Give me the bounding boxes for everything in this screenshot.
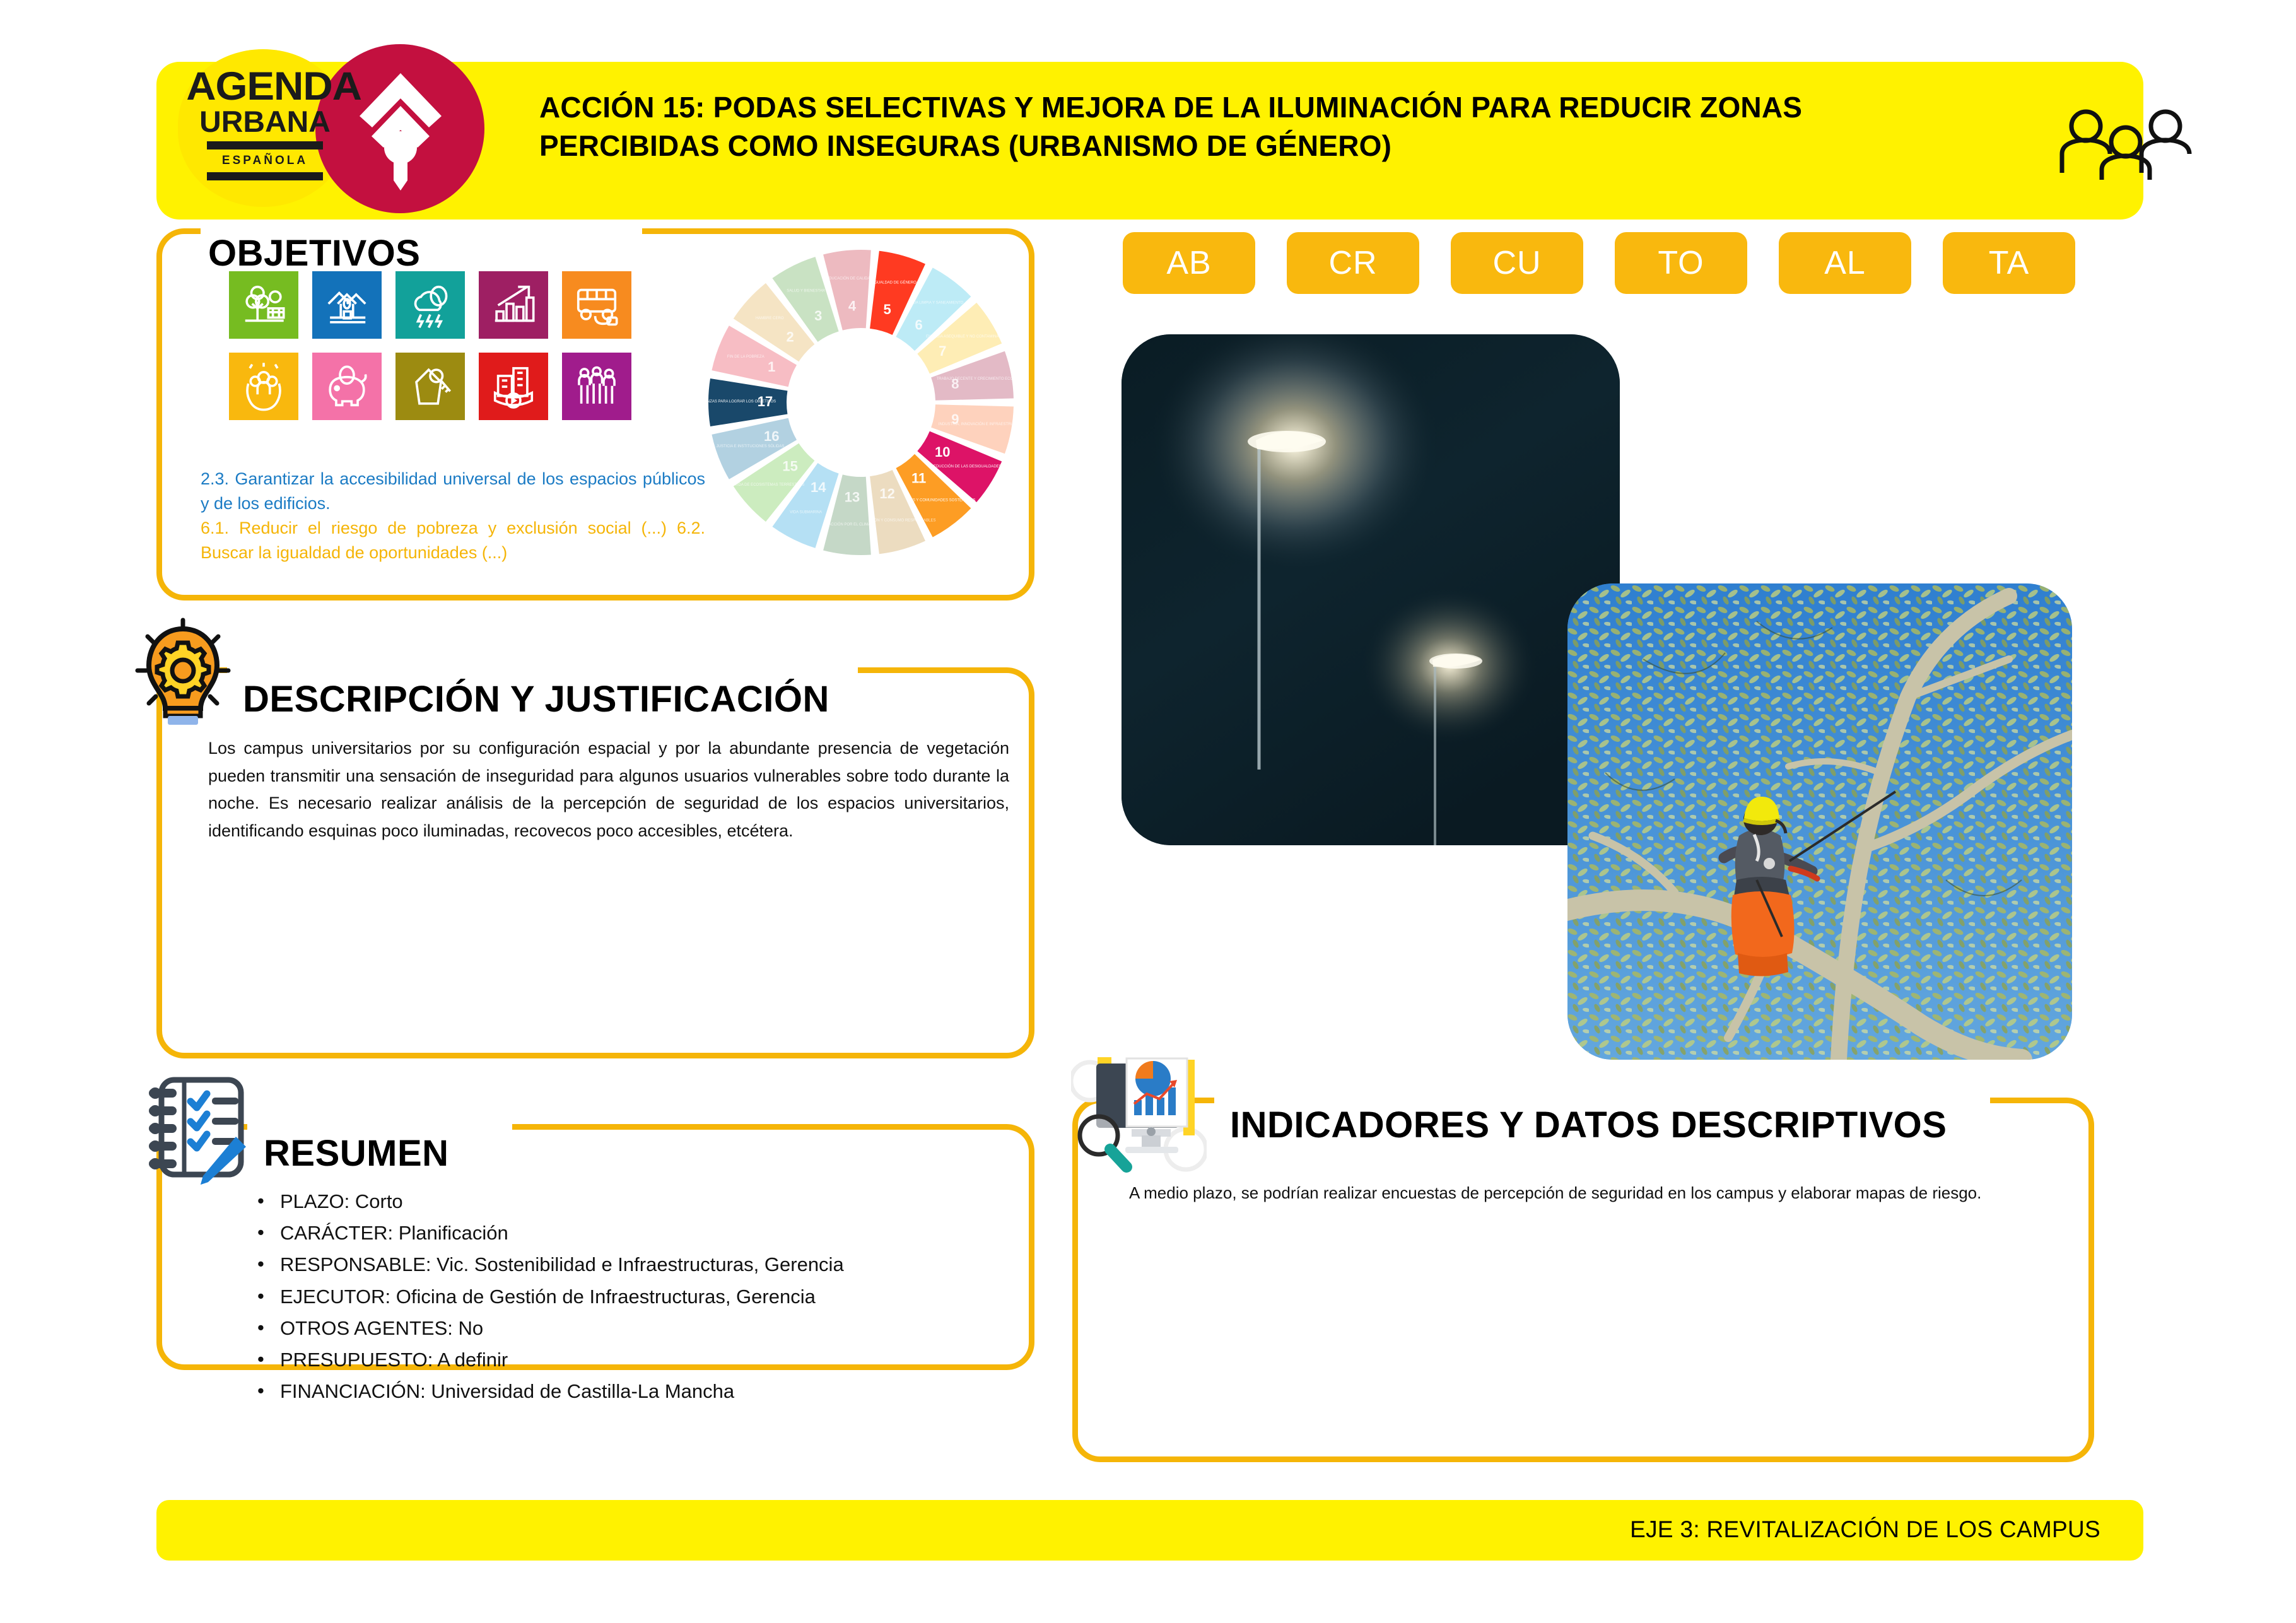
sdg-label-15: VIDA DE ECOSISTEMAS TERRESTRES	[735, 483, 805, 487]
list-item: CARÁCTER: Planificación	[252, 1217, 997, 1249]
territory-landscape-icon	[229, 271, 298, 339]
list-item: EJECUTOR: Oficina de Gestión de Infraest…	[252, 1281, 997, 1313]
logo-rule-bottom	[207, 172, 323, 180]
logo-line-urbana: URBANA	[188, 106, 343, 137]
resumen-title-notch	[247, 1120, 512, 1134]
campus-badge-row: AB CR CU TO AL TA	[1123, 232, 2075, 294]
sdg-label-17: ALIANZAS PARA LOGRAR LOS OBJETIVOS	[703, 400, 776, 404]
sdg-number-12: 12	[879, 486, 894, 501]
logo-line-espanola: ESPAÑOLA	[189, 154, 341, 168]
sdg-number-4: 4	[848, 298, 857, 314]
circular-economy-icon	[479, 271, 548, 339]
monitor-analytics-icon	[1071, 1055, 1207, 1181]
three-people-icon	[2053, 107, 2211, 183]
objetivos-text-list: 2.3. Garantizar la accesibilidad univers…	[201, 467, 705, 565]
campus-badge-ab[interactable]: AB	[1123, 232, 1255, 294]
page-title: ACCIÓN 15: PODAS SELECTIVAS Y MEJORA DE …	[539, 88, 1977, 165]
list-item: RESPONSABLE: Vic. Sostenibilidad e Infra…	[252, 1249, 997, 1280]
sdg-number-5: 5	[883, 302, 891, 317]
sdg-number-7: 7	[939, 343, 946, 359]
sdg-wheel-icon: 1FIN DE LA POBREZA2HAMBRE CERO3SALUD Y B…	[703, 245, 1019, 563]
housing-icon	[395, 353, 465, 420]
objetivos-title: OBJETIVOS	[208, 232, 420, 274]
sdg-label-5: IGUALDAD DE GÉNERO	[873, 280, 917, 284]
night-street-lamps-photo	[1122, 334, 1620, 845]
sdg-number-16: 16	[764, 428, 779, 444]
sdg-label-9: INDUSTRIA, INNOVACIÓN E INFRAESTRUCTURA	[939, 422, 1019, 426]
sdg-label-1: FIN DE LA POBREZA	[727, 355, 764, 359]
sdg-label-16: PAZ, JUSTICIA E INSTITUCIONES SÓLIDAS	[707, 444, 784, 448]
sdg-number-13: 13	[845, 489, 860, 505]
climate-change-icon	[395, 271, 465, 339]
urban-economy-icon	[312, 353, 382, 420]
sdg-number-6: 6	[915, 317, 922, 333]
list-item: PLAZO: Corto	[252, 1186, 997, 1217]
descripcion-card	[156, 667, 1034, 1058]
notepad-checklist-icon	[140, 1071, 254, 1191]
governance-icon	[562, 353, 631, 420]
campus-badge-cu[interactable]: CU	[1451, 232, 1583, 294]
descripcion-body: Los campus universitarios por su configu…	[208, 735, 1009, 845]
objetivo-text-1: 2.3. Garantizar la accesibilidad univers…	[201, 467, 705, 516]
descripcion-title: DESCRIPCIÓN Y JUSTIFICACIÓN	[243, 678, 829, 720]
list-item: PRESUPUESTO: A definir	[252, 1344, 997, 1376]
sdg-label-11: CIUDADES Y COMUNIDADES SOSTENIBLES	[896, 498, 975, 502]
sdg-number-11: 11	[911, 470, 926, 486]
indicadores-title: INDICADORES Y DATOS DESCRIPTIVOS	[1230, 1104, 1947, 1146]
sdg-number-3: 3	[814, 308, 822, 324]
sdg-number-2: 2	[787, 329, 794, 345]
objetivo-text-2: 6.1. Reducir el riesgo de pobreza y excl…	[201, 516, 705, 565]
campus-badge-to[interactable]: TO	[1615, 232, 1747, 294]
indicadores-card	[1072, 1098, 2094, 1462]
objetivos-title-notch	[201, 225, 642, 238]
sustainable-mobility-icon	[562, 271, 631, 339]
list-item: FINANCIACIÓN: Universidad de Castilla-La…	[252, 1376, 997, 1407]
indicadores-title-notch	[1214, 1094, 1990, 1108]
tree-pruning-worker-photo	[1567, 583, 2072, 1060]
campus-badge-ta[interactable]: TA	[1943, 232, 2075, 294]
sdg-label-4: EDUCACIÓN DE CALIDAD	[826, 276, 873, 281]
sdg-label-6: AGUA LIMPIA Y SANEAMIENTO	[908, 302, 964, 305]
urban-model-icon	[312, 271, 382, 339]
sdg-label-14: VIDA SUBMARINA	[790, 510, 822, 514]
sdg-label-8: TRABAJO DECENTE Y CRECIMIENTO ECONÓMICO	[936, 377, 1019, 381]
sdg-number-14: 14	[811, 479, 826, 495]
sdg-label-7: ENERGÍA ASEQUIBLE Y NO CONTAMINANTE	[926, 334, 1006, 339]
indicadores-body: A medio plazo, se podrían realizar encue…	[1129, 1180, 2044, 1206]
resumen-list: PLAZO: Corto CARÁCTER: Planificación RES…	[252, 1186, 997, 1408]
campus-badge-cr[interactable]: CR	[1287, 232, 1419, 294]
digital-era-icon	[479, 353, 548, 420]
campus-badge-al[interactable]: AL	[1779, 232, 1911, 294]
lightbulb-gear-icon	[134, 615, 235, 729]
list-item: OTROS AGENTES: No	[252, 1313, 997, 1344]
objetivos-icon-grid	[229, 271, 631, 420]
social-cohesion-icon	[229, 353, 298, 420]
logo-line-agenda: AGENDA	[186, 68, 344, 106]
logo-rule-top	[207, 141, 323, 149]
footer-eje-label: EJE 3: REVITALIZACIÓN DE LOS CAMPUS	[1630, 1516, 2100, 1543]
sdg-label-2: HAMBRE CERO	[756, 317, 784, 320]
agenda-urbana-logo-text: AGENDA URBANA ESPAÑOLA	[189, 68, 341, 185]
sdg-label-3: SALUD Y BIENESTAR	[787, 290, 825, 293]
sdg-number-15: 15	[782, 458, 797, 474]
sdg-label-13: ACCIÓN POR EL CLIMA	[829, 522, 871, 527]
sdg-number-10: 10	[935, 444, 950, 460]
resumen-title: RESUMEN	[264, 1132, 449, 1175]
sdg-label-10: REDUCCIÓN DE LAS DESIGUALDADES	[931, 464, 1002, 469]
sdg-number-1: 1	[768, 359, 775, 375]
descripcion-title-notch	[227, 664, 858, 677]
